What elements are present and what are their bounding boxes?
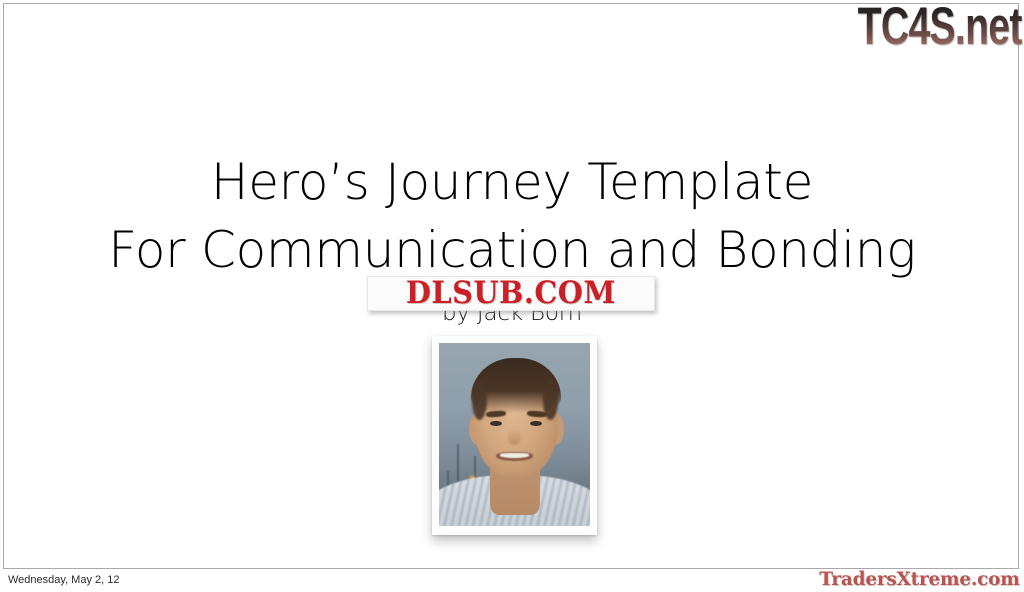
title-line-1: Hero’s Journey Template [0,148,1024,216]
tc4s-watermark: TC4S.net [858,0,1022,57]
author-photo [439,343,590,526]
title-line-2: For Communication and Bonding [0,216,1024,284]
dlsub-watermark-text: DLSUB.COM [406,278,616,309]
photo-eyebrow-right [526,410,546,417]
slide-date-footer: Wednesday, May 2, 12 [8,574,120,586]
tradersxtreme-watermark: TradersXtreme.com [820,568,1020,590]
photo-eyebrow-left [486,410,506,417]
dlsub-watermark-banner: DLSUB.COM [367,276,655,311]
photo-eye-left [490,421,502,426]
presentation-slide: TC4S.net Hero’s Journey Template For Com… [0,0,1024,592]
slide-title: Hero’s Journey Template For Communicatio… [0,148,1024,284]
photo-teeth [500,453,529,458]
author-photo-frame [432,336,597,535]
